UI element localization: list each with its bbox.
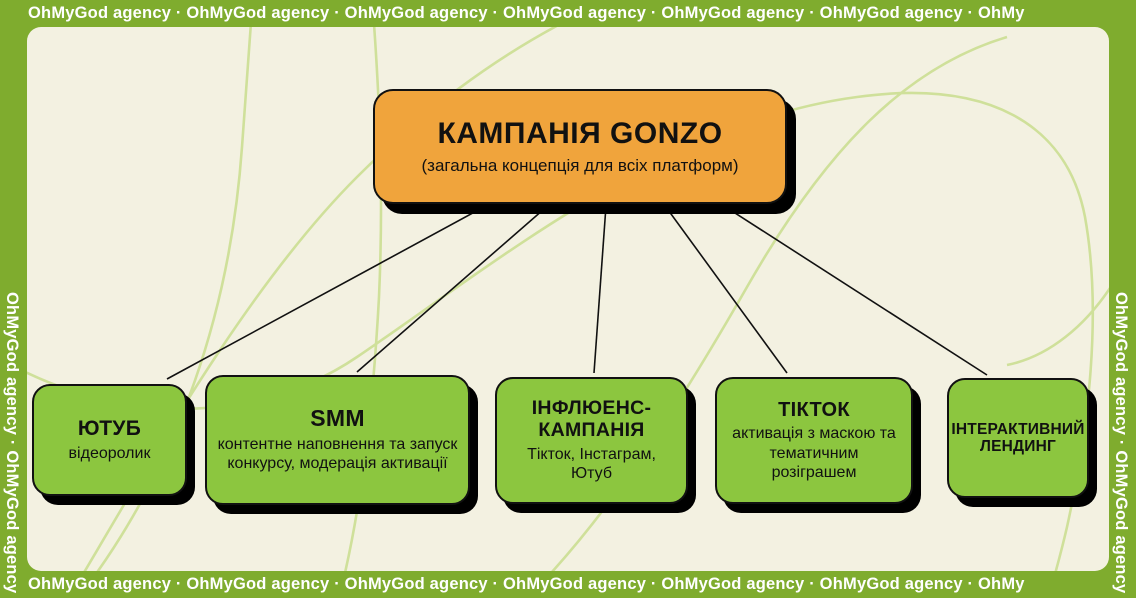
connector-root-youtube: [167, 189, 517, 379]
node-smm-subtitle: контентне наповнення та запуск конкурсу,…: [217, 435, 458, 473]
node-influencer-campaign[interactable]: ІНФЛЮЕНС-КАМПАНІЯ Тікток, Інстаграм, Юту…: [495, 377, 688, 504]
node-root-title: КАМПАНІЯ GONZO: [437, 117, 722, 151]
node-smm[interactable]: SMM контентне наповнення та запуск конку…: [205, 375, 470, 505]
marquee-right-text: OhMyGod agency · OhMyGod agency · OhMyGo…: [1111, 292, 1130, 598]
node-campaign-root[interactable]: КАМПАНІЯ GONZO (загальна концепція для в…: [373, 89, 787, 204]
node-root-subtitle: (загальна концепція для всіх платформ): [422, 156, 739, 176]
node-youtube-subtitle: відеоролик: [69, 444, 151, 463]
node-youtube-title: ЮТУБ: [78, 417, 141, 441]
node-influence-title: ІНФЛЮЕНС-КАМПАНІЯ: [507, 398, 676, 442]
connector-root-smm: [357, 189, 567, 372]
marquee-bottom: OhMyGod agency · OhMyGod agency · OhMyGo…: [0, 571, 1136, 598]
node-landing-title: ІНТЕРАКТИВНИЙ ЛЕНДИНГ: [951, 421, 1084, 456]
marquee-top: OhMyGod agency · OhMyGod agency · OhMyGo…: [0, 0, 1136, 27]
node-tiktok[interactable]: ТІКТОК активація з маскою та тематичним …: [715, 377, 913, 504]
marquee-bottom-text: OhMyGod agency · OhMyGod agency · OhMyGo…: [28, 575, 1025, 594]
marquee-left: OhMyGod agency · OhMyGod agency · OhMyGo…: [0, 0, 27, 598]
connector-root-influence: [594, 192, 607, 373]
diagram-canvas: КАМПАНІЯ GONZO (загальна концепція для в…: [27, 27, 1109, 571]
marquee-right: OhMyGod agency · OhMyGod agency · OhMyGo…: [1109, 0, 1136, 598]
node-interactive-landing[interactable]: ІНТЕРАКТИВНИЙ ЛЕНДИНГ: [947, 378, 1089, 498]
marquee-left-text: OhMyGod agency · OhMyGod agency · OhMyGo…: [2, 292, 21, 598]
node-tiktok-title: ТІКТОК: [778, 399, 850, 421]
node-smm-title: SMM: [310, 406, 365, 432]
node-youtube[interactable]: ЮТУБ відеоролик: [32, 384, 187, 496]
node-influence-subtitle: Тікток, Інстаграм, Ютуб: [507, 445, 676, 483]
connector-root-tiktok: [655, 192, 787, 373]
marquee-top-text: OhMyGod agency · OhMyGod agency · OhMyGo…: [28, 4, 1025, 23]
node-tiktok-subtitle: активація з маскою та тематичним розігра…: [727, 424, 901, 482]
connector-root-landing: [707, 195, 987, 375]
